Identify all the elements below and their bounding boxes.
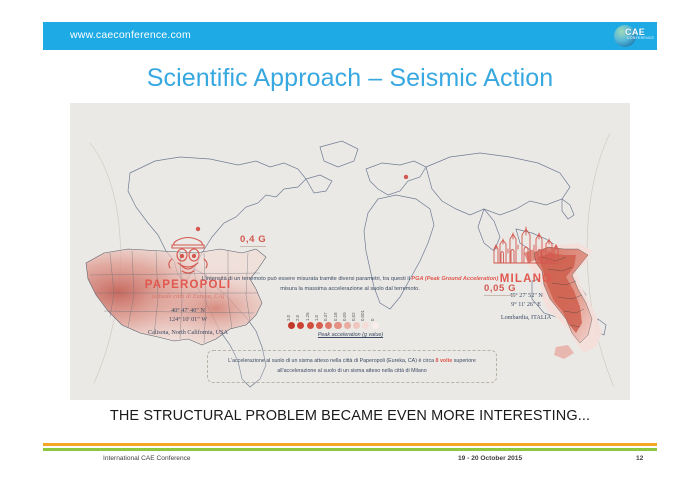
pga-scale-dot bbox=[362, 322, 369, 329]
page-title: Scientific Approach – Seismic Action bbox=[0, 64, 700, 93]
pga-tick-label: 1.25 bbox=[305, 312, 310, 321]
city-block-milano: MILANO 45° 27' 52" N 9° 11' 26" E Lombar… bbox=[451, 225, 601, 321]
comparison-callout: L'accelerazione al suolo di un sisma att… bbox=[207, 350, 497, 383]
city-longitude-paperopoli: 124° 10' 01" W bbox=[113, 316, 263, 325]
footer: International CAE Conference 19 - 20 Oct… bbox=[43, 455, 657, 469]
conference-url[interactable]: www.caeconference.com bbox=[70, 29, 191, 41]
pga-tick-label: 0.37 bbox=[323, 312, 328, 321]
pga-label-paperopoli: 0,4 G bbox=[240, 234, 266, 245]
callout-highlight: 8 volte bbox=[436, 358, 453, 364]
footer-date: 19 - 20 October 2015 bbox=[458, 455, 522, 462]
pga-tick-label: 0.09 bbox=[342, 312, 347, 321]
pga-explanation: L'intensità di un terremoto può essere m… bbox=[200, 275, 500, 295]
top-banner: www.caeconference.com CAE CONFERENCE bbox=[43, 22, 657, 50]
pga-scale-dot bbox=[316, 322, 323, 329]
pga-scale-dot bbox=[353, 322, 360, 329]
pga-scale-dot bbox=[372, 322, 379, 329]
infographic-panel: PAPEROPOLI (attuale città di Eureka, CA)… bbox=[70, 103, 630, 400]
pga-scale-dot bbox=[334, 322, 341, 329]
pga-underline-left bbox=[240, 246, 266, 247]
footer-rule-orange bbox=[43, 443, 657, 446]
city-latitude-paperopoli: 40° 47' 40" N bbox=[113, 307, 263, 316]
callout-part1: L'accelerazione al suolo di un sisma att… bbox=[228, 358, 435, 364]
cae-logo-subtext: CONFERENCE bbox=[627, 36, 654, 40]
pga-tick-label: 0.18 bbox=[333, 312, 338, 321]
cae-logo: CAE CONFERENCE bbox=[614, 24, 648, 48]
pga-scale-dot bbox=[297, 322, 304, 329]
pga-tick-label: 0.02 bbox=[351, 312, 356, 321]
pga-scale-dots bbox=[288, 322, 413, 329]
slide-subline: THE STRUCTURAL PROBLEM BECAME EVEN MORE … bbox=[0, 408, 700, 424]
duomo-milano-icon bbox=[491, 225, 561, 271]
footer-conference-name: International CAE Conference bbox=[103, 455, 191, 462]
duck-scrooge-icon bbox=[158, 231, 218, 277]
pga-tick-label: 0.001 bbox=[360, 310, 365, 321]
pga-tick-label: 1.0 bbox=[314, 315, 319, 321]
pga-scale-dot bbox=[307, 322, 314, 329]
pga-scale-dot bbox=[344, 322, 351, 329]
city-region-milano: Lombardia, ITALIA bbox=[451, 314, 601, 321]
pga-tick-label: 0 bbox=[370, 319, 375, 321]
pga-scale-caption: Peak acceleration (g value) bbox=[288, 332, 413, 338]
explanation-highlight: PGA (Peak Ground Acceleration) bbox=[411, 276, 498, 282]
pga-scale-ticks: 3.02.01.251.00.370.180.090.020.0010 bbox=[288, 306, 413, 321]
pga-underline-right bbox=[484, 295, 516, 296]
pga-scale-dot bbox=[325, 322, 332, 329]
marker-milano bbox=[404, 175, 408, 179]
pga-scale-dot bbox=[288, 322, 295, 329]
slide: www.caeconference.com CAE CONFERENCE Sci… bbox=[0, 0, 700, 494]
pga-value-paperopoli: 0,4 G bbox=[240, 234, 266, 247]
explanation-part1: L'intensità di un terremoto può essere m… bbox=[202, 276, 412, 282]
city-region-paperopoli: Calisota, North California, USA bbox=[113, 329, 263, 336]
footer-page-number: 12 bbox=[636, 455, 643, 462]
pga-scale: 3.02.01.251.00.370.180.090.020.0010 Peak… bbox=[288, 306, 413, 338]
pga-tick-label: 3.0 bbox=[286, 315, 291, 321]
city-longitude-milano: 9° 11' 26" E bbox=[451, 301, 601, 310]
footer-rule-green bbox=[43, 448, 657, 451]
explanation-part2: misura la massima accelerazione al suolo… bbox=[280, 286, 420, 292]
pga-tick-label: 2.0 bbox=[295, 315, 300, 321]
